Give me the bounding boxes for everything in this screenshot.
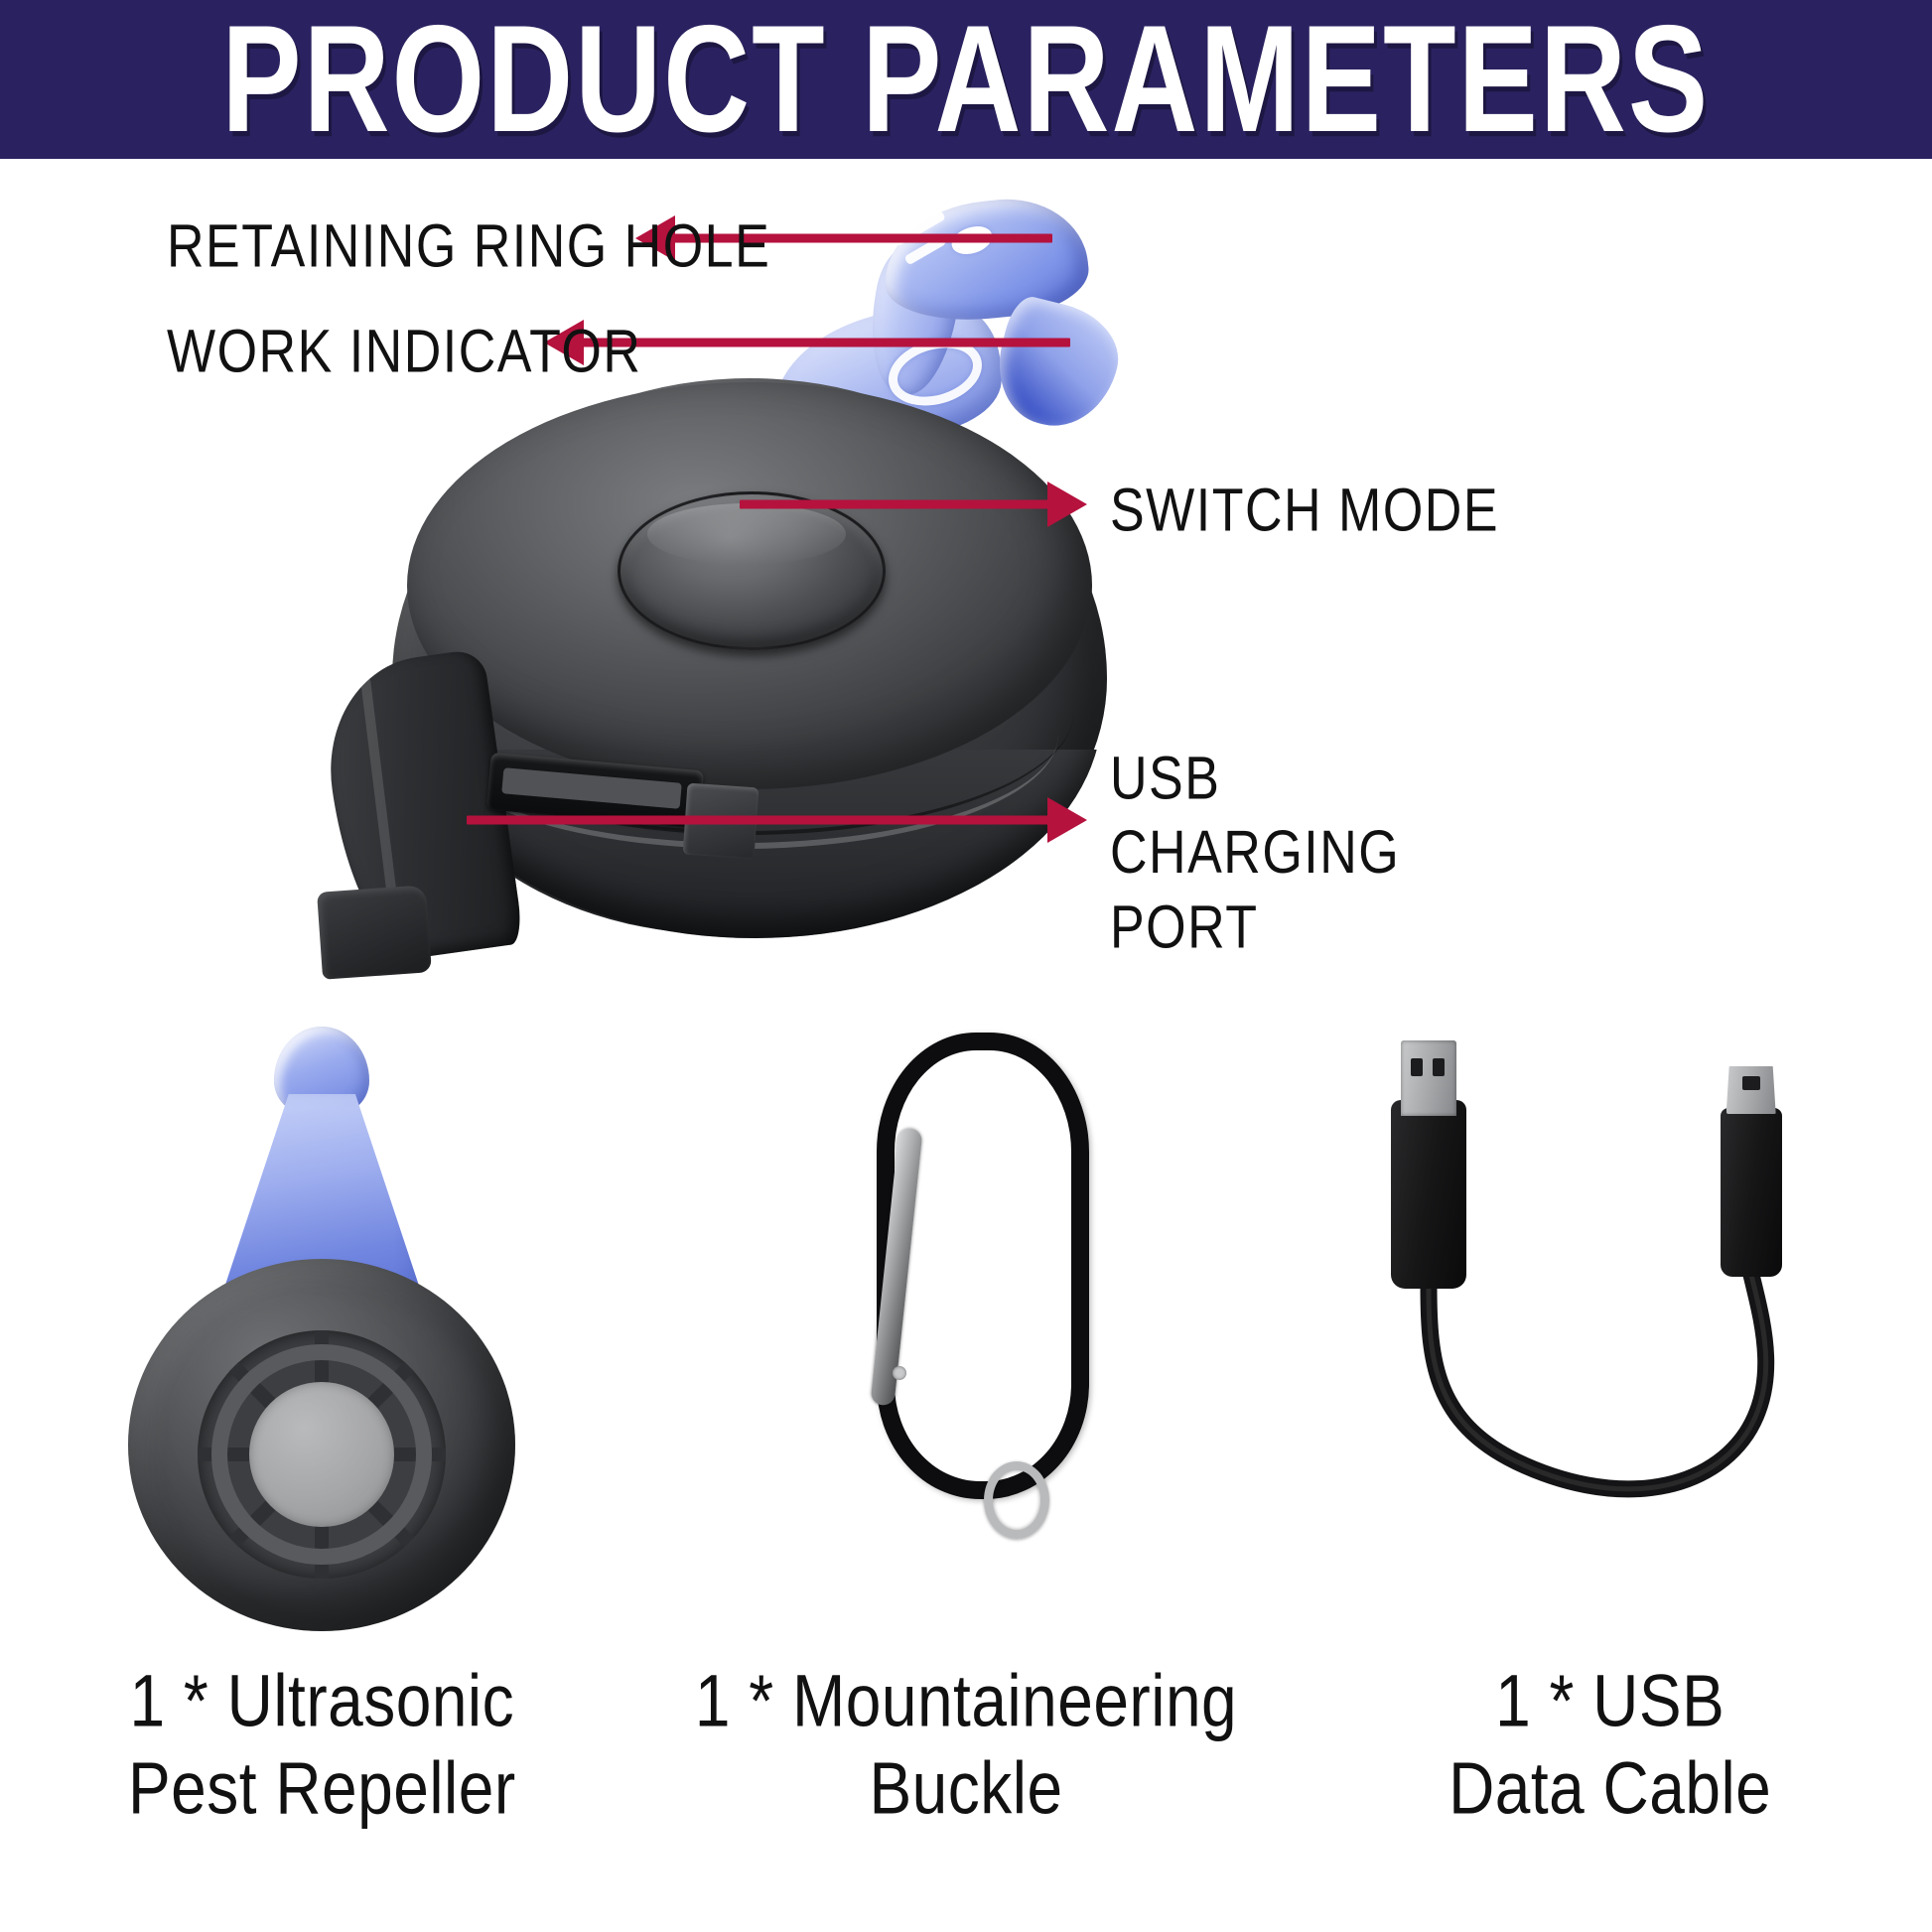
flap-foot: [317, 885, 432, 979]
callout-label-retaining-ring-hole: RETAINING RING HOLE: [167, 210, 770, 285]
hero-product-image: [298, 194, 1191, 998]
package-item-caption: 1 * Mountaineering Buckle: [695, 1658, 1237, 1832]
carabiner-split-ring: [984, 1461, 1049, 1539]
usb-a-contact-slot: [1433, 1058, 1445, 1076]
package-item-ultrasonic-pest-repeller: 1 * Ultrasonic Pest Repeller: [0, 1013, 644, 1932]
usb-cable: [1377, 1033, 1844, 1628]
arrow-shaft: [740, 500, 1053, 509]
repeller-grille-center: [249, 1382, 394, 1527]
carabiner-gate-pin: [893, 1366, 906, 1380]
callout-label-work-indicator: WORK INDICATOR: [167, 316, 641, 390]
header-banner: PRODUCT PARAMETERS: [0, 0, 1932, 159]
usb-a-plug: [1391, 1100, 1466, 1289]
product-parameters-infographic: PRODUCT PARAMETERS: [0, 0, 1932, 1932]
micro-usb-plug: [1721, 1108, 1782, 1277]
callout-label-switch-mode: SWITCH MODE: [1110, 475, 1499, 549]
arrow-shaft: [467, 816, 1053, 825]
package-item-caption: 1 * USB Data Cable: [1449, 1658, 1771, 1832]
package-item-caption: 1 * Ultrasonic Pest Repeller: [128, 1658, 516, 1832]
carabiner: [877, 1033, 1089, 1521]
page-title: PRODUCT PARAMETERS: [222, 3, 1711, 155]
package-item-usb-data-cable: 1 * USB Data Cable: [1288, 1013, 1932, 1932]
package-contents-row: 1 * Ultrasonic Pest Repeller 1 * Mountai…: [0, 1013, 1932, 1932]
pest-repeller-art: [0, 1013, 644, 1648]
callout-label-usb-charging-port: USB CHARGING PORT: [1110, 743, 1400, 966]
usb-a-contact-slot: [1411, 1058, 1423, 1076]
arrow-shaft: [578, 339, 1070, 347]
usb-cable-art: [1288, 1013, 1932, 1648]
arrow-head-right-icon: [1047, 482, 1087, 527]
micro-usb-connector-shell: [1726, 1066, 1776, 1114]
arrow-head-right-icon: [1047, 797, 1087, 843]
mode-switch-button-gloss: [647, 503, 846, 565]
package-item-mountaineering-buckle: 1 * Mountaineering Buckle: [644, 1013, 1289, 1932]
micro-usb-contact-notch: [1742, 1076, 1760, 1090]
usb-a-connector-shell: [1401, 1040, 1456, 1116]
carabiner-art: [644, 1013, 1289, 1648]
